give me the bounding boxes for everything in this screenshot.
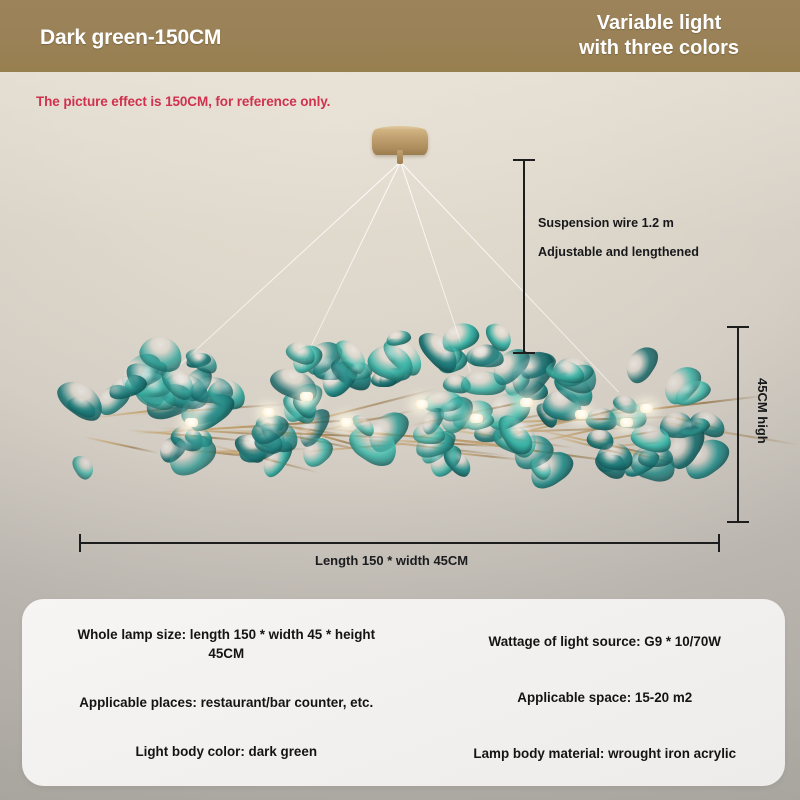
spec-item-applicable-places: Applicable places: restaurant/bar counte… — [62, 693, 391, 712]
disclaimer-text: The picture effect is 150CM, for referen… — [36, 94, 330, 109]
light-bulb-5 — [470, 414, 483, 423]
header-feature-text: Variable light with three colors — [544, 11, 774, 61]
suspension-dim-tick-bottom — [513, 352, 535, 354]
header-band: Dark green-150CM Variable light with thr… — [0, 0, 800, 72]
height-dim-tick-bottom — [727, 521, 749, 523]
spec-column-left: Whole lamp size: length 150 * width 45 *… — [22, 599, 407, 786]
light-bulb-8 — [620, 418, 633, 427]
spec-item-lamp-size: Whole lamp size: length 150 * width 45 *… — [62, 625, 391, 663]
ginkgo-leaf — [620, 341, 664, 388]
light-bulb-4 — [415, 400, 428, 409]
header-feature-line1: Variable light — [544, 11, 774, 36]
product-spec-image: Dark green-150CM Variable light with thr… — [0, 0, 800, 800]
lamp-branch — [84, 436, 158, 453]
light-bulb-9 — [300, 392, 313, 401]
light-bulb-6 — [520, 398, 533, 407]
spec-item-wattage: Wattage of light source: G9 * 10/70W — [441, 632, 770, 651]
spec-item-light-body-color: Light body color: dark green — [62, 742, 391, 761]
spec-item-applicable-space: Applicable space: 15-20 m2 — [441, 688, 770, 707]
light-bulb-7 — [575, 410, 588, 419]
length-dim-line — [79, 542, 719, 544]
canopy-stem — [397, 150, 403, 164]
ginkgo-leaf — [69, 452, 97, 482]
suspension-wire-note-line2: Adjustable and lengthened — [538, 245, 699, 259]
header-feature-line2: with three colors — [544, 36, 774, 61]
suspension-wire-note-line1: Suspension wire 1.2 m — [538, 216, 674, 230]
height-dim-line — [737, 326, 739, 522]
length-dim-label: Length 150 * width 45CM — [315, 553, 468, 568]
light-bulb-3 — [340, 418, 353, 427]
suspension-dim-line — [523, 159, 525, 353]
spec-item-lamp-material: Lamp body material: wrought iron acrylic — [441, 744, 770, 763]
light-bulb-10 — [640, 404, 653, 413]
light-bulb-2 — [262, 408, 275, 417]
length-dim-tick-right — [718, 534, 720, 552]
light-bulb-1 — [185, 418, 198, 427]
height-dim-label: 45CM high — [755, 378, 770, 444]
page-title: Dark green-150CM — [40, 26, 221, 50]
specification-panel: Whole lamp size: length 150 * width 45 *… — [22, 599, 785, 786]
spec-column-right: Wattage of light source: G9 * 10/70W App… — [407, 599, 786, 786]
